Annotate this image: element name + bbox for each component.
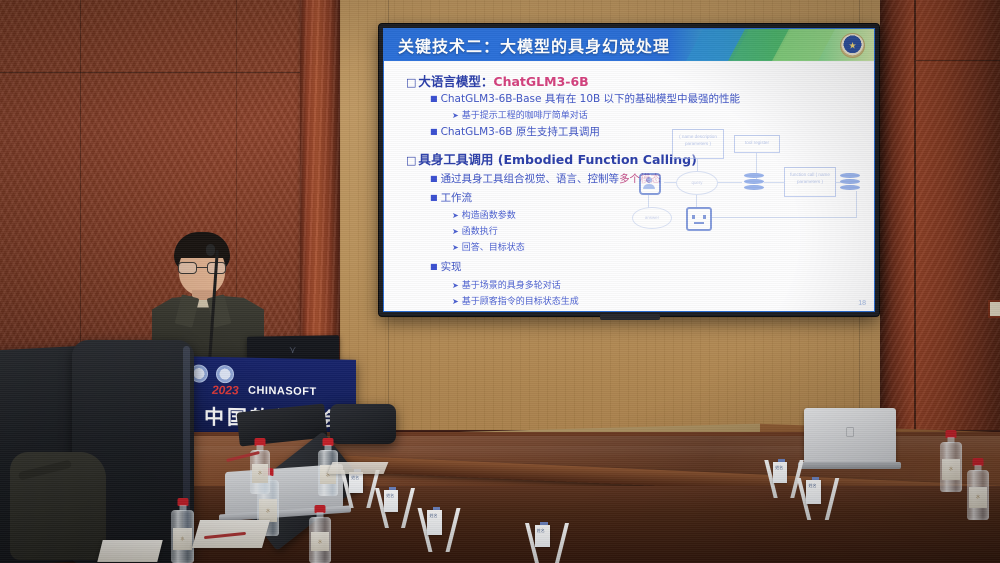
podium-year: 2023 xyxy=(212,383,239,398)
diagram-box-function-call: function call ( name parameters ) xyxy=(784,167,836,197)
bullet-marker-arrow: ➤ xyxy=(452,281,459,290)
query-cloud-icon: query xyxy=(676,171,718,195)
slide-bullet-l2-10: ■实现 xyxy=(430,259,462,274)
name-card-holder-5[interactable]: 姓名 xyxy=(769,460,799,498)
bullet-marker-square-filled: ■ xyxy=(430,127,438,136)
water-bottle-6[interactable]: 水 xyxy=(940,430,962,492)
bullet-marker-arrow: ➤ xyxy=(452,297,459,306)
speaker-glasses xyxy=(178,262,226,274)
water-bottle-2[interactable]: 水 xyxy=(171,498,194,563)
paper-document-3[interactable] xyxy=(328,462,389,474)
bullet-marker-arrow: ➤ xyxy=(452,227,459,236)
bullet-text: 实现 xyxy=(441,261,462,273)
bullet-text: 基于提示工程的咖啡厅简单对话 xyxy=(462,111,588,121)
bullet-marker-square-filled: ■ xyxy=(430,193,438,202)
bullet-text: ChatGLM3-6B 原生支持工具调用 xyxy=(441,126,600,138)
water-bottle-4[interactable]: 水 xyxy=(309,505,331,563)
name-card-holder-3[interactable]: 姓名 xyxy=(423,508,455,552)
slide-bullet-l3-11: ➤基于场景的具身多轮对话 xyxy=(452,278,561,291)
slide-bullet-l2-5: ■通过具身工具组合视觉、语言、控制等多个模态 xyxy=(430,171,661,186)
bullet-text: 基于顾客指令的目标状态生成 xyxy=(462,297,579,307)
slide-title: 关键技术二：大模型的具身幻觉处理 xyxy=(398,33,670,57)
bullet-marker-arrow: ➤ xyxy=(452,111,459,120)
bullet-marker-arrow: ➤ xyxy=(452,211,459,220)
slide-bullet-l2-1: ■ChatGLM3-6B-Base 具有在 10B 以下的基础模型中最强的性能 xyxy=(430,91,740,106)
bullet-text: 工作流 xyxy=(441,192,473,204)
bullet-marker-square-hollow: □ xyxy=(406,76,416,89)
bullet-accent: ChatGLM3-6B xyxy=(493,74,588,89)
slide-header-band: 关键技术二：大模型的具身幻觉处理 ★ xyxy=(384,29,874,61)
tv-stand xyxy=(600,314,660,320)
laptop-logo-icon: ⋎ xyxy=(289,345,296,356)
name-card-holder-1[interactable]: 姓名 xyxy=(345,470,375,508)
robot-icon xyxy=(686,207,712,231)
back-wall-dark-wood-right xyxy=(880,0,1000,430)
bullet-text: 函数执行 xyxy=(462,227,498,237)
paper-document-2[interactable] xyxy=(97,540,162,562)
diagram-box-tool-register: tool register xyxy=(734,135,780,153)
bullet-text: 回答、目标状态 xyxy=(462,243,525,253)
bullet-marker-square-filled: ■ xyxy=(430,262,438,271)
slide-page-number: 18 xyxy=(858,300,866,307)
bullet-text: 基于场景的具身多轮对话 xyxy=(462,281,561,291)
bullet-text: 大语言模型： xyxy=(418,74,493,89)
bullet-text: 通过具身工具组合视觉、语言、控制等 xyxy=(441,173,620,185)
bullet-marker-square-filled: ■ xyxy=(430,94,438,103)
user-icon xyxy=(639,173,661,195)
function-calling-flow-diagram: ( name description parameters ) tool reg… xyxy=(634,129,866,239)
slide-bullet-l3-7: ➤构造函数参数 xyxy=(452,208,516,221)
wall-light-switch[interactable] xyxy=(988,300,1000,318)
answer-cloud-icon: answer xyxy=(632,207,672,229)
bullet-marker-arrow: ➤ xyxy=(452,243,459,252)
university-seal-icon: ★ xyxy=(840,33,865,58)
name-card-holder-2[interactable]: 姓名 xyxy=(380,488,410,528)
slide-bullet-l2-6: ■工作流 xyxy=(430,190,472,205)
presentation-slide: 关键技术二：大模型的具身幻觉处理 ★ □大语言模型：ChatGLM3-6B ■C… xyxy=(383,28,875,312)
slide-bullet-l1-0: □大语言模型：ChatGLM3-6B xyxy=(406,71,589,90)
microphone-head-icon xyxy=(206,244,215,256)
bullet-marker-square-filled: ■ xyxy=(430,174,438,183)
bullet-marker-square-hollow: □ xyxy=(406,154,416,167)
slide-bullet-l3-12: ➤基于顾客指令的目标状态生成 xyxy=(452,294,579,307)
bullet-text: 构造函数参数 xyxy=(462,211,516,221)
database-icon-2 xyxy=(840,173,860,191)
bullet-text: ChatGLM3-6B-Base 具有在 10B 以下的基础模型中最强的性能 xyxy=(441,93,741,105)
database-icon xyxy=(744,173,764,191)
slide-bullet-l3-8: ➤函数执行 xyxy=(452,224,498,237)
apple-logo-icon:  xyxy=(845,424,855,439)
slide-bullet-l3-9: ➤回答、目标状态 xyxy=(452,240,525,253)
slide-bullet-l3-2: ➤基于提示工程的咖啡厅简单对话 xyxy=(452,108,588,121)
name-card-holder-4[interactable]: 姓名 xyxy=(530,523,564,563)
office-chair-3[interactable] xyxy=(330,404,396,444)
water-bottle-7[interactable]: 水 xyxy=(967,458,989,520)
slide-bullet-l2-3: ■ChatGLM3-6B 原生支持工具调用 xyxy=(430,124,600,139)
water-bottle-5[interactable]: 水 xyxy=(250,438,270,494)
podium-brand-en: CHINASOFT xyxy=(248,385,317,398)
name-card-holder-6[interactable]: 姓名 xyxy=(802,478,834,520)
wall-mounted-tv: 关键技术二：大模型的具身幻觉处理 ★ □大语言模型：ChatGLM3-6B ■C… xyxy=(379,24,879,316)
macbook-silver[interactable]:  xyxy=(804,408,896,464)
bag-on-chair xyxy=(10,452,106,560)
conference-room-photo: 关键技术二：大模型的具身幻觉处理 ★ □大语言模型：ChatGLM3-6B ■C… xyxy=(0,0,1000,563)
speaker-hair-front xyxy=(175,240,229,258)
org-seal-right-icon xyxy=(216,365,234,383)
diagram-box-tool-schema: ( name description parameters ) xyxy=(672,129,724,159)
